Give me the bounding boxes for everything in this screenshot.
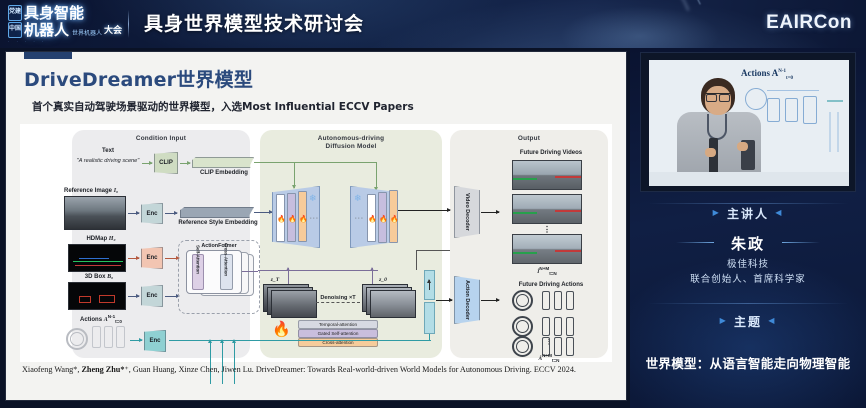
- future-action-row-1: [512, 290, 586, 312]
- video-schematic-line: [767, 90, 819, 91]
- reference-image-encoder: Enc: [141, 203, 163, 224]
- arrow-hdmap-enc-to-actionformer: [165, 258, 179, 259]
- speaker-kicker: ▶ 主讲人 ◀: [630, 205, 866, 222]
- snowflake-icon-2: ❄: [354, 194, 362, 203]
- brand-logo-eaircon: EAIRCon: [766, 12, 852, 34]
- clip-bus-down-2: [376, 162, 377, 190]
- header-glow-decoration: [560, 6, 720, 48]
- topic-kicker-right-triangle-icon: ◀: [768, 316, 776, 325]
- video-schematic-box-2: [785, 98, 798, 122]
- flame-icon-3: 🔥: [299, 216, 308, 223]
- speaker-hand-right: [737, 142, 748, 151]
- speaker-video-feed[interactable]: Actions AN-1t=0: [640, 52, 856, 192]
- kicker-left-triangle-icon: ▶: [713, 208, 721, 217]
- future-actions-symbol: ÂN+Mt=N: [512, 353, 586, 363]
- header-divider: [128, 10, 129, 38]
- hdmap-label-text: HDMap: [86, 236, 107, 242]
- latent-column-bottom: [424, 302, 435, 334]
- unet-enc-dots: · · ·: [308, 216, 320, 222]
- bottom-bar: [0, 400, 866, 408]
- logo-sub-text: 世界机器人: [72, 31, 102, 38]
- speaker-glasses: [706, 93, 730, 99]
- actions-encoder: Enc: [144, 330, 166, 352]
- box3d-label-text: 3D Box: [85, 274, 106, 280]
- cond-bus-line: [258, 270, 378, 271]
- latent-clean-symbol: z_0: [372, 277, 394, 283]
- legend-gated-self-attention: Gated Self-attention: [298, 329, 378, 338]
- reference-image-label-text: Reference Image: [64, 188, 112, 194]
- action-bus-riser: [429, 334, 430, 341]
- future-video-frame-2: [512, 194, 582, 224]
- clip-bus-h: [254, 162, 376, 163]
- panel-condition-label: Condition Input: [72, 135, 250, 142]
- reference-image-encoder-label: Enc: [146, 211, 157, 217]
- denoising-label: Denoising ×T: [316, 295, 360, 301]
- action-decoder-block: Action Decoder: [454, 276, 480, 324]
- unet-dec-dots: · · ·: [353, 216, 365, 222]
- presentation-slide: DriveDreamer世界模型 首个真实自动驾驶场景驱动的世界模型，入选Mos…: [6, 52, 626, 400]
- actionformer-out-line: [242, 271, 258, 272]
- slide-title: DriveDreamer世界模型: [24, 65, 253, 92]
- arrow-hdmap-to-enc: [128, 258, 139, 259]
- reference-image-label: Reference Image I₀: [64, 188, 138, 194]
- speaker-hand-left: [705, 148, 716, 157]
- snowflake-icon-1: ❄: [309, 194, 317, 203]
- arrow-videodecoder-to-frames: [481, 212, 499, 213]
- box3d-label: 3D Box B₀: [68, 274, 130, 280]
- video-slide-actions-text: Actions AN-1t=0: [741, 68, 793, 81]
- future-video-frame-1: [512, 160, 582, 190]
- legend-temporal-attention: Temporal-attention: [298, 320, 378, 329]
- clip-block-label: CLIP: [159, 160, 173, 166]
- video-slide-actions-label: Actions A: [741, 68, 778, 78]
- actions-encoder-label: Enc: [149, 338, 160, 344]
- text-input-value: "A realistic driving scene": [72, 157, 144, 165]
- video-schematic-wheel: [745, 88, 767, 110]
- text-input-label: Text: [78, 148, 138, 154]
- rail-separator-bottom: [648, 303, 848, 304]
- hdmap-encoder-label: Enc: [146, 255, 157, 261]
- latent-noisy-symbol: z_T: [264, 277, 286, 283]
- clip-embedding-bar: [192, 157, 254, 168]
- action-decoder-label: Action Decoder: [464, 280, 470, 320]
- arrow-text-to-clip: [142, 163, 152, 164]
- arrow-style-to-unet: [254, 212, 272, 213]
- logo-line-2: 机器人: [24, 22, 69, 38]
- video-inner-scene: Actions AN-1t=0: [649, 60, 849, 186]
- flame-icon-2: 🔥: [288, 216, 297, 223]
- topic-kicker-left-triangle-icon: ▶: [720, 316, 728, 325]
- reference-style-embedding-label: Reference Style Embedding: [172, 220, 264, 226]
- actions-icon-group: [64, 322, 134, 354]
- box3d-encoder: Enc: [141, 285, 163, 307]
- latent-noisy-frames-3: [271, 290, 317, 318]
- video-schematic-tick-2: [837, 112, 839, 152]
- reference-image-thumb: [64, 196, 126, 230]
- kicker-right-triangle-icon: ◀: [775, 208, 783, 217]
- clip-bus-down-1: [294, 162, 295, 188]
- video-schematic-tick-1: [829, 112, 831, 152]
- topic-kicker: ▶ 主题 ◀: [630, 313, 866, 330]
- arrow-box3d-enc-to-actionformer: [165, 296, 179, 297]
- logo-badge-bottom-text: 中国: [9, 26, 21, 33]
- video-decoder-block: Video Decoder: [454, 186, 480, 238]
- video-schematic-accent: [827, 100, 843, 102]
- speaker-lanyard: [707, 114, 727, 140]
- topic-title: 世界模型：从语言智能走向物理智能: [630, 353, 866, 372]
- panel-diffusion-label-line1: Autonomous-driving: [318, 135, 384, 142]
- citation-authors-first: Xiaofeng Wang*,: [22, 365, 81, 374]
- logo-badge-top: 党建: [8, 5, 22, 21]
- box3d-encoder-label: Enc: [146, 293, 157, 299]
- architecture-figure: Condition Input Autonomous-driving Diffu…: [20, 124, 612, 362]
- future-videos-title: Future Driving Videos: [496, 150, 606, 156]
- arrow-clip-to-embedding: [180, 163, 190, 164]
- arrow-action-up-1: [210, 340, 211, 384]
- screen: 党建 具身智能 中国 机器人 世界机器人 大会 · · · · · 具身世界模型…: [0, 0, 866, 408]
- rail-separator-top: [648, 203, 848, 204]
- topic-kicker-label: 主题: [734, 315, 762, 329]
- speaker-role: 联合创始人、首席科学家: [630, 271, 866, 285]
- flame-icon-5: 🔥: [379, 216, 388, 223]
- flame-icon-legend: 🔥: [272, 322, 291, 337]
- future-videos-superscript: N+M: [539, 266, 549, 271]
- self-attention-label: Self-Attention: [196, 240, 201, 280]
- unet-to-latent-horiz: [416, 250, 450, 251]
- reference-image-symbol: I₀: [114, 188, 118, 194]
- box3d-symbol: B₀: [107, 274, 113, 280]
- hdmap-label: HDMap H₀: [68, 236, 134, 242]
- video-schematic-box-1: [767, 98, 780, 122]
- future-videos-subscript: t=N: [549, 271, 557, 276]
- video-slide-footer: [649, 172, 849, 186]
- arrow-latent-to-actiondecoder: [436, 300, 452, 301]
- reference-style-embedding-bar: [180, 207, 254, 218]
- citation-rest: ⁺, Guan Huang, Xinze Chen, Jiwen Lu. Dri…: [124, 365, 576, 374]
- cond-bus-corner: [258, 270, 259, 271]
- arrow-box3d-to-enc: [128, 296, 139, 297]
- speaker-name: 朱政: [630, 233, 866, 254]
- panel-output-label: Output: [450, 135, 608, 142]
- future-actions-title: Future Driving Actions: [496, 282, 606, 288]
- event-title: 具身世界模型技术研讨会: [144, 9, 364, 36]
- arrow-into-latent-column: [429, 280, 430, 290]
- conference-logo: 党建 具身智能 中国 机器人 世界机器人 大会 · · · · ·: [8, 4, 138, 44]
- arrow-refimg-to-enc: [128, 213, 139, 214]
- slide-citation: Xiaofeng Wang*, Zheng Zhu*⁺, Guan Huang,…: [22, 364, 614, 375]
- hdmap-encoder: Enc: [141, 247, 163, 269]
- arrow-action-up-2: [222, 340, 223, 384]
- future-actions-superscript: N+M: [542, 353, 552, 358]
- panel-diffusion-label: Autonomous-driving Diffusion Model: [260, 135, 442, 151]
- logo-dots: · · · · ·: [8, 39, 138, 44]
- future-video-frame-3: [512, 234, 582, 264]
- future-actions-subscript: t=N: [552, 358, 560, 363]
- arrow-action-up-3: [234, 340, 235, 384]
- hdmap-symbol: H₀: [109, 236, 116, 242]
- logo-badge-bottom: 中国: [8, 22, 22, 38]
- flame-icon-6: 🔥: [390, 216, 399, 223]
- panel-diffusion-label-line2: Diffusion Model: [326, 143, 377, 150]
- citation-author-highlight: Zheng Zhu*: [81, 365, 124, 374]
- video-decoder-label: Video Decoder: [464, 193, 470, 231]
- page-header: 党建 具身智能 中国 机器人 世界机器人 大会 · · · · · 具身世界模型…: [0, 0, 866, 48]
- future-videos-symbol: ÎN+Mt=N: [512, 266, 582, 276]
- flame-icon-1: 🔥: [277, 216, 286, 223]
- video-schematic-box-3: [803, 96, 817, 124]
- slide-subtitle: 首个真实自动驾驶场景驱动的世界模型，入选Most Influential ECC…: [32, 99, 414, 114]
- arrow-actiondecoder-to-actions: [481, 300, 499, 301]
- logo-dahui-text: 大会: [104, 23, 122, 36]
- logo-badge-top-text: 党建: [9, 9, 21, 16]
- unet-to-latent-riser: [416, 250, 417, 270]
- box3d-thumb: [68, 282, 126, 310]
- future-videos-ellipsis: ⋮: [512, 225, 582, 234]
- logo-line-1: 具身智能: [24, 5, 84, 21]
- clip-embedding-label: CLIP Embedding: [188, 170, 260, 176]
- flame-icon-4: 🔥: [368, 216, 377, 223]
- hdmap-thumb: [68, 244, 126, 272]
- cross-attention-label: Cross-Attention: [224, 240, 229, 280]
- slide-accent-bar: [24, 52, 72, 59]
- latent-clean-frames-3: [370, 290, 416, 318]
- future-action-row-3: [512, 330, 586, 352]
- speaker-organization: 极佳科技: [630, 256, 866, 270]
- denoising-dashed-arrow: [316, 302, 360, 303]
- clip-block: CLIP: [154, 152, 178, 174]
- actionformer-title: ActionFormer: [178, 243, 260, 249]
- action-bus-long: [169, 340, 431, 341]
- arrow-actions-to-enc: [130, 340, 142, 341]
- speaker-kicker-label: 主讲人: [727, 207, 769, 221]
- arrow-unet-to-videodecoder: [398, 210, 450, 211]
- arrow-enc-to-style-embedding: [165, 213, 177, 214]
